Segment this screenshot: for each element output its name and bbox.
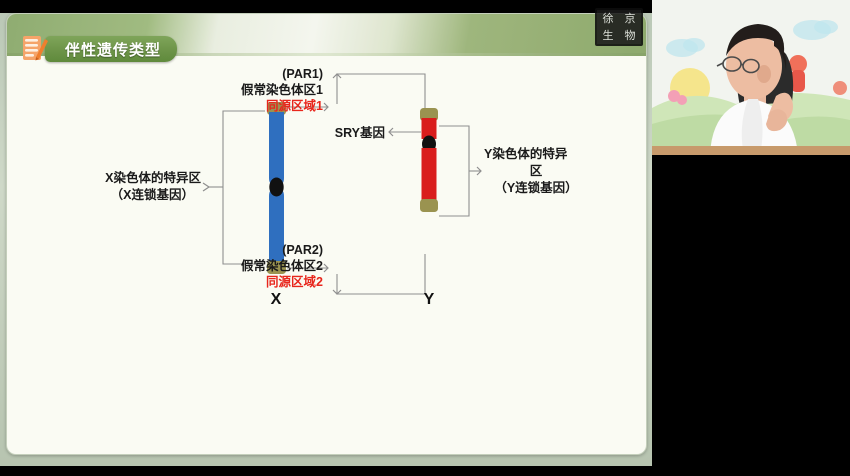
par1-alt-label: 同源区域1 — [266, 98, 323, 113]
y-body-lower — [422, 148, 437, 202]
watermark-char-4: 物 — [625, 30, 636, 41]
video-panel-background — [652, 155, 850, 476]
page-title: 伴性遗传类型 — [65, 39, 161, 60]
y-chromosome — [420, 108, 438, 212]
par1-name-label: 假常染色体区1 — [241, 82, 323, 97]
y-par1-connector — [337, 74, 425, 114]
x-specific-region-label-line1: X染色体的特异区 — [105, 170, 201, 185]
watermark-char-3: 生 — [603, 30, 614, 41]
y-specific-region-label-line1: Y染色体的特异 — [484, 146, 568, 161]
x-chromosome-name-label: X — [271, 291, 282, 308]
watermark-logo: 徐 京 生 物 — [595, 8, 643, 46]
par2-alt-label: 同源区域2 — [266, 274, 323, 289]
y-bottom-tip — [420, 199, 438, 212]
x-specific-region-label-line2: （X连锁基因） — [111, 187, 194, 202]
sry-gene-label: SRY基因 — [335, 125, 385, 140]
slide-title-chip: 伴性遗传类型 — [45, 36, 177, 62]
par2-name-label: 假常染色体区2 — [241, 258, 323, 273]
y-specific-region-label-line3: （Y连锁基因） — [494, 180, 577, 195]
par1-code-label: (PAR1) — [282, 67, 323, 81]
y-par2-connector — [337, 254, 425, 294]
y-bracket — [439, 126, 469, 216]
list-note-icon — [19, 33, 49, 63]
x-bracket — [223, 111, 265, 264]
x-centromere — [269, 178, 283, 197]
par2-code-label: (PAR2) — [282, 243, 323, 257]
y-specific-region-label-line2: 区 — [530, 164, 543, 178]
slide-area: 伴性遗传类型 — [0, 0, 652, 466]
watermark-char-2: 京 — [625, 13, 636, 24]
watermark-char-1: 徐 — [603, 13, 614, 24]
instructor-video-feed — [652, 0, 850, 155]
x-arrow-head — [203, 183, 209, 191]
chromosome-diagram: (PAR1) 假常染色体区1 同源区域1 (PAR2) 假常染色体区2 同源区域… — [7, 56, 646, 454]
slide-top-letterbox — [0, 0, 652, 13]
y-chromosome-name-label: Y — [424, 291, 435, 308]
x-body-upper — [269, 112, 284, 187]
screen-root: 伴性遗传类型 — [0, 0, 850, 476]
slide-canvas: 伴性遗传类型 — [6, 13, 647, 455]
